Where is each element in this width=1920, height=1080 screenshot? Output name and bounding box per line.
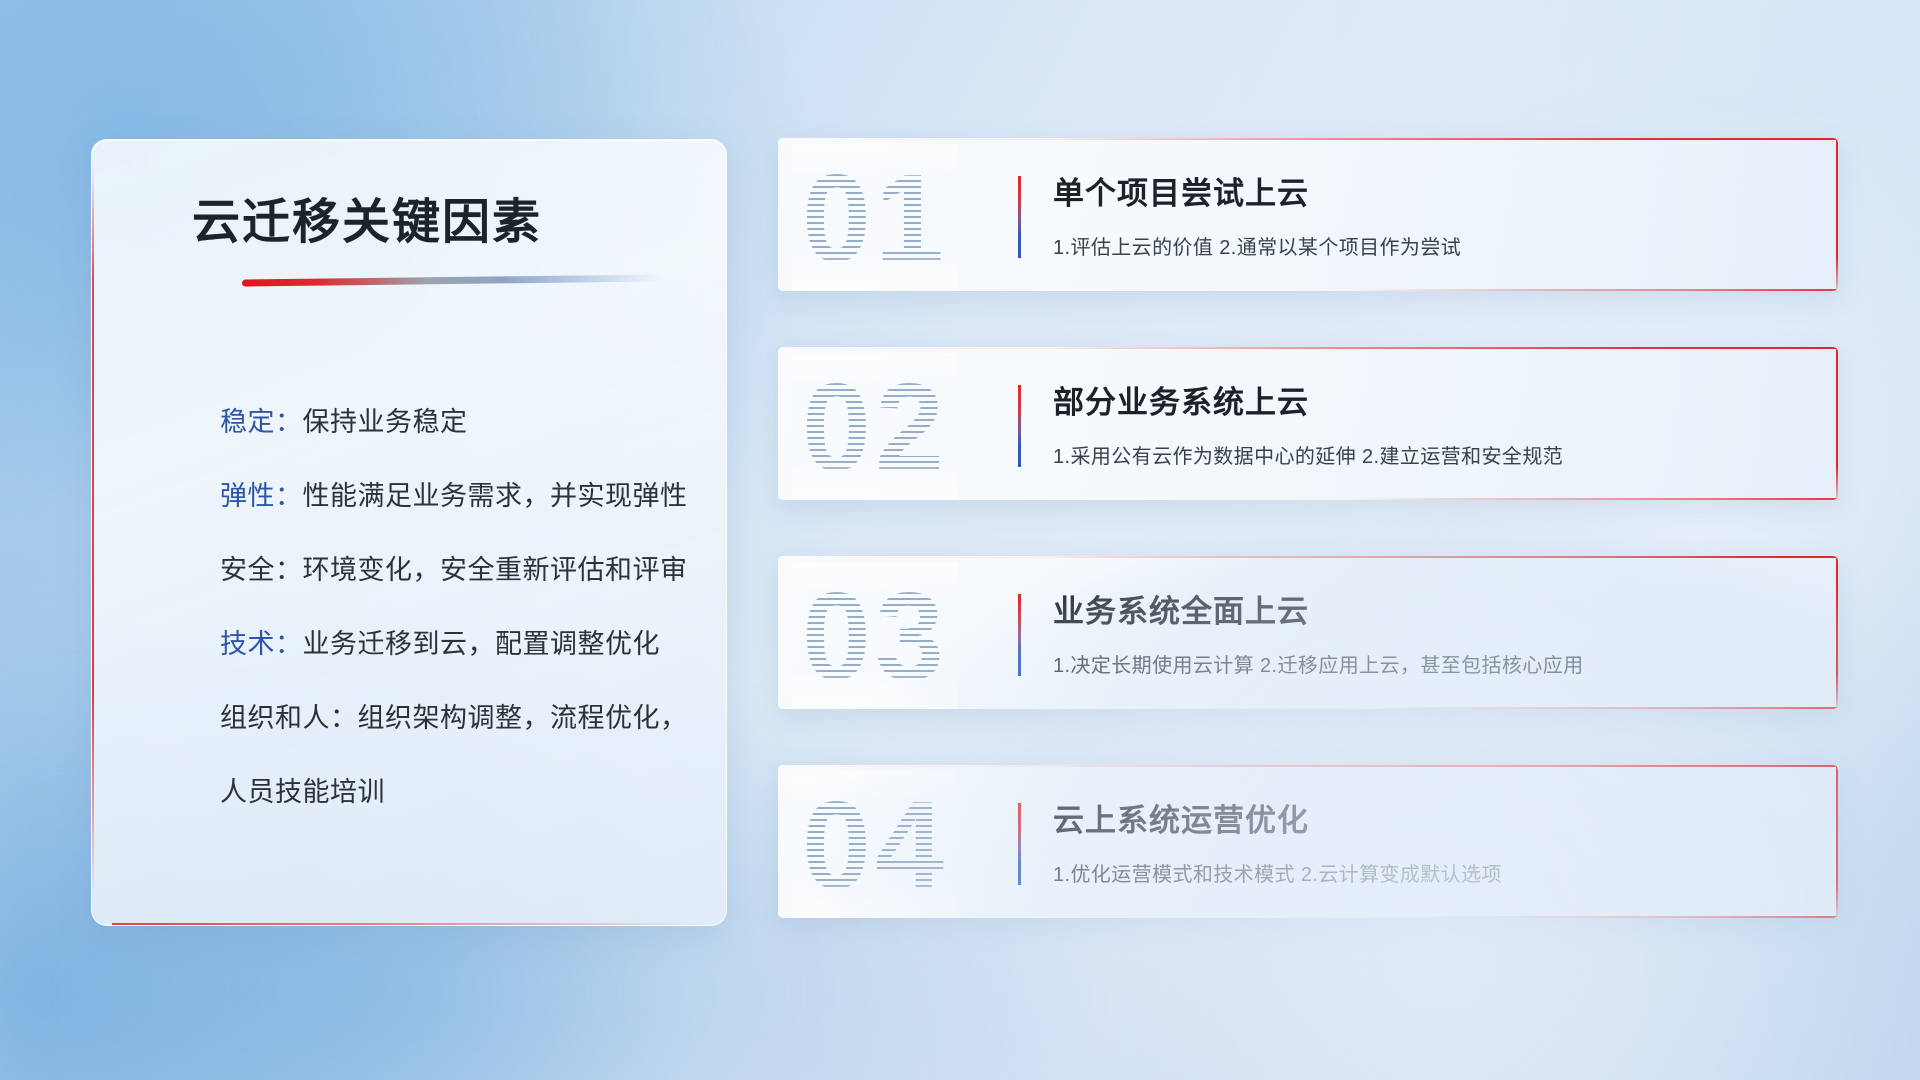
step-number: 01	[802, 144, 948, 291]
step-description: 1.评估上云的价值 2.通常以某个项目作为尝试	[1053, 231, 1812, 260]
step-number: 03	[802, 562, 948, 709]
card-top-accent-line	[778, 138, 1838, 140]
list-item: 组织和人：组织架构调整，流程优化，	[220, 681, 686, 755]
step-title: 单个项目尝试上云	[1053, 168, 1812, 213]
list-item-label: 技术：	[220, 629, 303, 659]
list-item-text: 保持业务稳定	[303, 407, 468, 437]
list-item-label: 弹性：	[220, 481, 303, 511]
card-top-accent-line	[778, 765, 1838, 767]
step-title: 云上系统运营优化	[1053, 795, 1812, 840]
card-right-accent-line	[1836, 138, 1838, 291]
step-content: 部分业务系统上云 1.采用公有云作为数据中心的延伸 2.建立运营和安全规范	[1053, 377, 1812, 469]
key-factors-panel: 云迁移关键因素 稳定：保持业务稳定 弹性：性能满足业务需求，并实现弹性 安全：环…	[91, 139, 727, 926]
step-accent-bar	[1018, 594, 1021, 676]
list-item: 安全：环境变化，安全重新评估和评审	[220, 533, 686, 607]
step-number: 04	[802, 771, 948, 918]
panel-left-accent-line	[92, 166, 94, 899]
card-bottom-accent-line	[1350, 498, 1838, 500]
step-content: 云上系统运营优化 1.优化运营模式和技术模式 2.云计算变成默认选项	[1053, 795, 1812, 887]
card-top-accent-line	[778, 347, 1838, 349]
step-card-01[interactable]: 01 单个项目尝试上云 1.评估上云的价值 2.通常以某个项目作为尝试	[778, 138, 1838, 291]
list-item-text: 人员技能培训	[220, 777, 385, 807]
card-bottom-accent-line	[1350, 707, 1838, 709]
panel-title-underline	[242, 274, 662, 286]
list-item-text: 环境变化，安全重新评估和评审	[303, 555, 688, 585]
list-item-label: 稳定：	[220, 407, 303, 437]
step-card-03[interactable]: 03 业务系统全面上云 1.决定长期使用云计算 2.迁移应用上云，甚至包括核心应…	[778, 556, 1838, 709]
slide-canvas: 云迁移关键因素 稳定：保持业务稳定 弹性：性能满足业务需求，并实现弹性 安全：环…	[0, 0, 1920, 1080]
step-accent-bar	[1018, 803, 1021, 885]
list-item-label: 安全：	[220, 555, 303, 585]
key-factors-list: 稳定：保持业务稳定 弹性：性能满足业务需求，并实现弹性 安全：环境变化，安全重新…	[220, 385, 686, 829]
list-item-text: 组织架构调整，流程优化，	[358, 703, 688, 733]
list-item: 技术：业务迁移到云，配置调整优化	[220, 607, 686, 681]
step-accent-bar	[1018, 176, 1021, 258]
step-content: 业务系统全面上云 1.决定长期使用云计算 2.迁移应用上云，甚至包括核心应用	[1053, 586, 1812, 678]
card-right-accent-line	[1836, 347, 1838, 500]
panel-bottom-accent-line	[112, 923, 706, 925]
list-item: 弹性：性能满足业务需求，并实现弹性	[220, 459, 686, 533]
card-right-accent-line	[1836, 765, 1838, 918]
card-top-accent-line	[778, 556, 1838, 558]
step-accent-bar	[1018, 385, 1021, 467]
list-item: 稳定：保持业务稳定	[220, 385, 686, 459]
step-description: 1.决定长期使用云计算 2.迁移应用上云，甚至包括核心应用	[1053, 649, 1812, 678]
list-item: 人员技能培训	[220, 755, 686, 829]
step-card-04[interactable]: 04 云上系统运营优化 1.优化运营模式和技术模式 2.云计算变成默认选项	[778, 765, 1838, 918]
panel-title: 云迁移关键因素	[192, 182, 542, 252]
step-title: 业务系统全面上云	[1053, 586, 1812, 631]
step-number: 02	[802, 353, 948, 500]
step-title: 部分业务系统上云	[1053, 377, 1812, 422]
migration-steps-list: 01 单个项目尝试上云 1.评估上云的价值 2.通常以某个项目作为尝试 02 部…	[778, 138, 1838, 974]
step-description: 1.优化运营模式和技术模式 2.云计算变成默认选项	[1053, 858, 1812, 887]
card-bottom-accent-line	[1350, 289, 1838, 291]
card-right-accent-line	[1836, 556, 1838, 709]
step-content: 单个项目尝试上云 1.评估上云的价值 2.通常以某个项目作为尝试	[1053, 168, 1812, 260]
list-item-text: 业务迁移到云，配置调整优化	[303, 629, 661, 659]
list-item-text: 性能满足业务需求，并实现弹性	[303, 481, 688, 511]
card-bottom-accent-line	[1350, 916, 1838, 918]
step-card-02[interactable]: 02 部分业务系统上云 1.采用公有云作为数据中心的延伸 2.建立运营和安全规范	[778, 347, 1838, 500]
step-description: 1.采用公有云作为数据中心的延伸 2.建立运营和安全规范	[1053, 440, 1812, 469]
list-item-label: 组织和人：	[220, 703, 358, 733]
